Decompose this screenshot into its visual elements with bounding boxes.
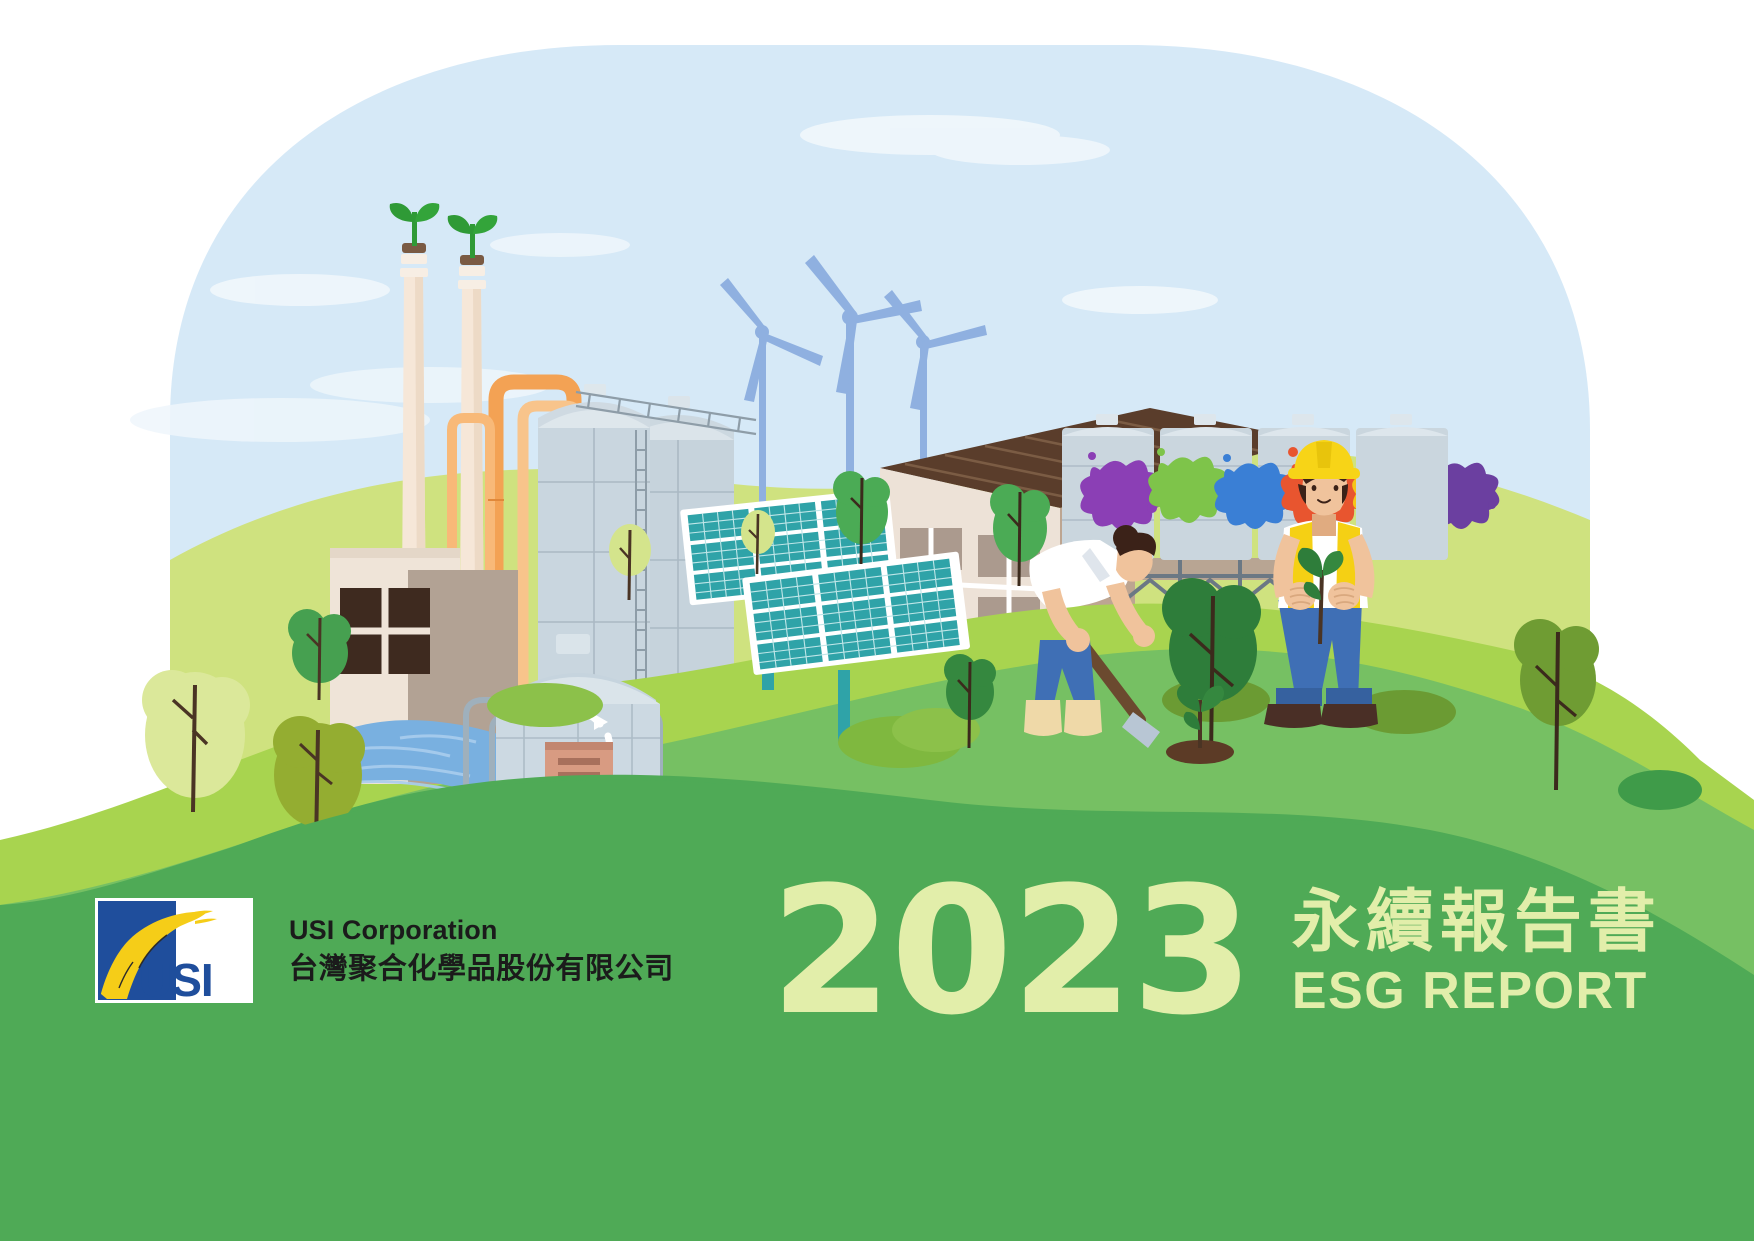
company-name-en: USI Corporation [289, 913, 674, 948]
usi-logo-icon: USI [95, 898, 253, 1003]
report-title-lockup: 2023 永續報告書 ESG REPORT [770, 880, 1662, 1024]
company-name-zh: 台灣聚合化學品股份有限公司 [289, 951, 674, 988]
report-title-zh: 永續報告書 [1292, 888, 1662, 957]
brand-lockup: USI USI Corporation 台灣聚合化學品股份有限公司 [95, 898, 674, 1003]
cover-footer: USI USI Corporation 台灣聚合化學品股份有限公司 2023 永… [0, 880, 1754, 1100]
splash-tank [1356, 414, 1448, 560]
report-year: 2023 [770, 880, 1252, 1024]
esg-report-cover: USI USI Corporation 台灣聚合化學品股份有限公司 2023 永… [0, 0, 1754, 1241]
report-title-col: 永續報告書 ESG REPORT [1292, 888, 1662, 1024]
brand-text: USI Corporation 台灣聚合化學品股份有限公司 [289, 913, 674, 988]
report-title-en: ESG REPORT [1292, 964, 1662, 1019]
